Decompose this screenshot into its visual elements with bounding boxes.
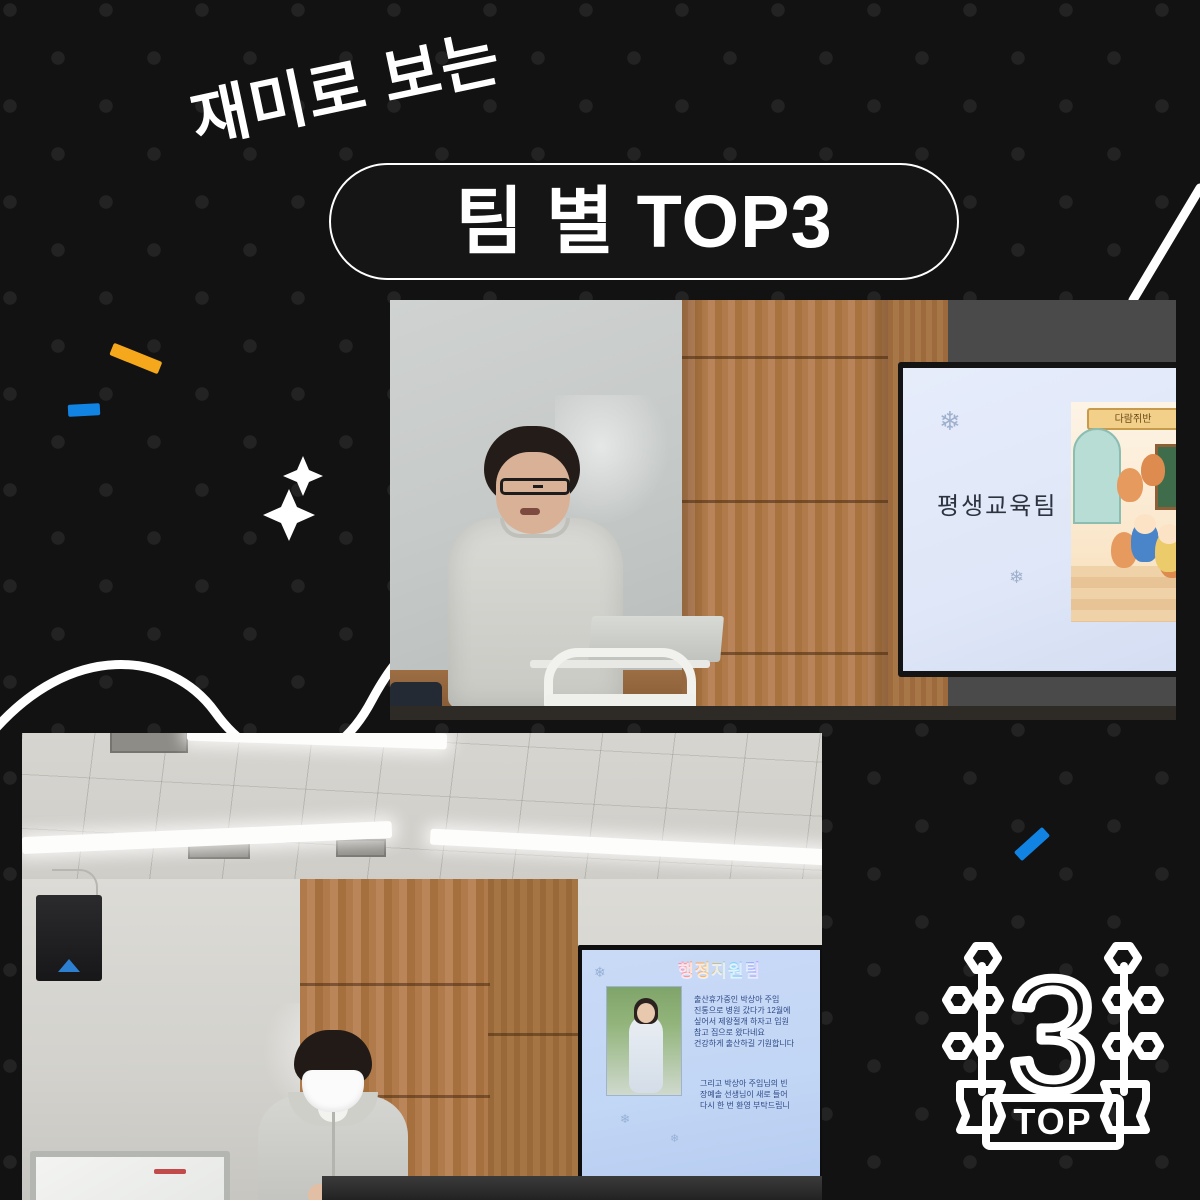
ceiling-tiles [22,733,822,883]
slide-text-block-2: 그리고 박상아 주임님의 빈 장예솔 선생님이 새로 들어 다시 한 번 환영 … [700,1078,790,1111]
wood-panel-right [488,879,578,1200]
wood-seam [682,356,890,359]
slide-text-block-1: 출산휴가중인 박상아 주임 진통으로 병원 갔다가 12월에 싶어서 제왕절개 … [694,994,794,1049]
laurel-leaf-left-2a [946,1036,970,1056]
snowflake-icon: ❄ [594,964,606,981]
squirrel-character [1141,454,1165,486]
projector-screen: ❄ ❄ 평생교육팀 다람쥐반 [903,368,1176,671]
illustration-door [1073,428,1121,524]
laurel-leaf-left-top [968,946,998,970]
whiteboard-mark [154,1169,186,1174]
illustration-banner-label: 다람쥐반 [1087,408,1176,430]
photo-top[interactable]: ❄ ❄ 평생교육팀 다람쥐반 [390,300,1176,720]
laurel-leaf-right-1b [1136,990,1160,1010]
ceiling-vent [336,839,386,857]
slide-illustration: 다람쥐반 [1071,402,1176,622]
confetti-bar-orange [109,343,162,375]
sparkle-large [263,489,315,541]
laurel-leaf-left-1b [976,990,1000,1010]
illustration-floor [1071,566,1176,622]
confetti-bar-blue-left [68,403,101,417]
slide-team-title: 평생교육팀 [937,486,1057,521]
slide-text-line: 그리고 박상아 주임님의 빈 [700,1078,790,1089]
laurel-leaf-right-1a [1106,990,1130,1010]
sparkle-small [283,456,323,496]
laurel-leaf-right-2a [1106,1036,1130,1056]
projector-screen-frame: ❄ ❄ 평생교육팀 다람쥐반 [898,362,1176,677]
page-title-pill: 팀 별 TOP3 [329,163,959,280]
glasses-icon [500,478,570,495]
presenter-eye [312,1064,323,1067]
badge-rank-number: 3 [1009,945,1098,1124]
slide-text-line: 건강하게 출산하길 기원합니다 [694,1038,794,1049]
child-head [1158,524,1176,544]
page-kicker: 재미로 보는 [186,27,506,154]
wood-seam [682,500,890,503]
projector-screen: ❄ ❄ ❄ 행정지원팀 출산휴가중인 박상아 주임 진통으로 병원 갔다가 12… [582,950,820,1195]
wood-seam [300,983,490,986]
photo-bottom[interactable]: ❄ ❄ ❄ 행정지원팀 출산휴가중인 박상아 주임 진통으로 병원 갔다가 12… [22,733,822,1200]
wood-seam [488,1033,578,1036]
slide-maternity-photo [606,986,682,1096]
desk [322,1176,822,1200]
top3-badge[interactable]: 3 TOP [938,932,1168,1158]
slide-team-title: 행정지원팀 [678,956,761,981]
snowflake-icon: ❄ [670,1132,679,1145]
ceiling-vent [110,733,188,753]
slide-text-line: 진통으로 병원 갔다가 12월에 [694,1005,794,1016]
snowflake-icon: ❄ [1009,568,1024,586]
presenter-mouth [520,508,540,515]
presenter-figure [258,1030,408,1200]
slide-text-line: 다시 한 번 환영 부탁드립니 [700,1100,790,1111]
laurel-leaf-right-top [1108,946,1138,970]
slide-text-line: 싶어서 제왕절개 하자고 입원 [694,1016,794,1027]
snowflake-icon: ❄ [939,408,961,434]
photo-bottom-scene: ❄ ❄ ❄ 행정지원팀 출산휴가중인 박상아 주임 진통으로 병원 갔다가 12… [22,733,822,1200]
ceiling-grid [22,733,822,883]
laurel-leaf-right-2b [1136,1036,1160,1056]
maternity-figure [629,1015,663,1093]
slide-text-line: 장예솔 선생님이 새로 들어 [700,1089,790,1100]
page-title: 팀 별 TOP3 [455,185,832,259]
corner-diagonal-line [1133,188,1200,300]
floor-shadow [390,706,1176,720]
badge-ribbon-label: TOP [1013,1101,1092,1142]
poster-canvas: 재미로 보는 팀 별 TOP3 ❄ ❄ 평생교육팀 다람쥐반 [0,0,1200,1200]
snowflake-icon: ❄ [620,1112,630,1126]
maternity-head [637,1003,655,1023]
projector-screen-frame: ❄ ❄ ❄ 행정지원팀 출산휴가중인 박상아 주임 진통으로 병원 갔다가 12… [578,945,822,1200]
slide-text-line: 출산휴가중인 박상아 주임 [694,994,794,1005]
wall-speaker [36,895,102,981]
photo-top-scene: ❄ ❄ 평생교육팀 다람쥐반 [390,300,1176,720]
child-head [1134,514,1156,534]
presenter-collar [500,518,570,538]
confetti-bar-blue-right [1014,827,1050,861]
whiteboard [30,1151,230,1200]
presenter-eye [342,1064,353,1067]
laurel-leaf-left-2b [976,1036,1000,1056]
speaker-logo-icon [58,959,80,972]
squirrel-character [1117,468,1143,502]
laurel-leaf-left-1a [946,990,970,1010]
slide-text-line: 참고 집으로 왔다네요 [694,1027,794,1038]
